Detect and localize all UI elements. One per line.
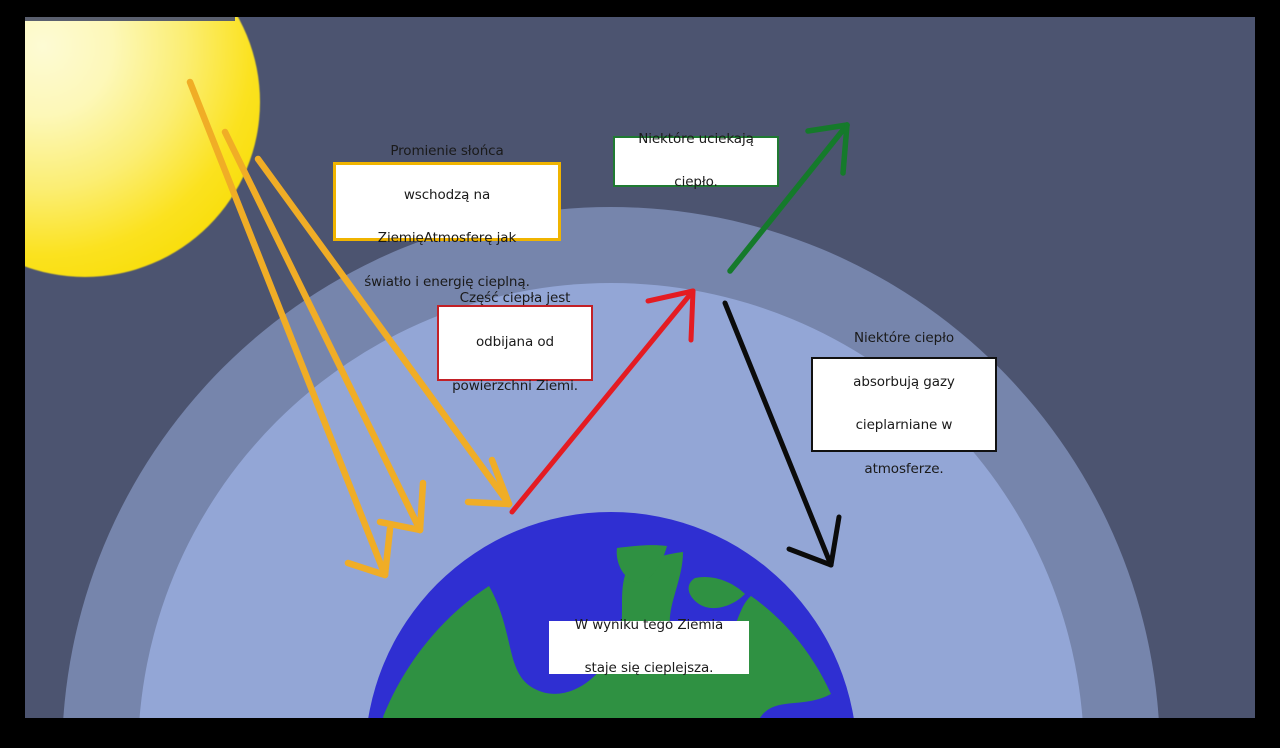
callout-line: Niektóre uciekają [615,129,777,151]
greenhouse-effect-diagram: Promienie słońca wschodzą na ZiemięAtmos… [0,0,1280,748]
callout-line: atmosferze. [813,459,995,481]
frame-right-bar [1255,0,1280,748]
callout-line: W wyniku tego Ziemia [549,615,749,637]
callout-escaping-heat: Niektóre uciekają ciepło. [613,136,779,187]
callout-escaping-heat-text: Niektóre uciekają ciepło. [615,129,777,195]
callout-line: Część ciepła jest [439,288,591,310]
callout-line: odbijana od [439,332,591,354]
callout-line: staje się cieplejsza. [549,658,749,680]
callout-line: wschodzą na [336,185,558,207]
callout-sun-rays: Promienie słońca wschodzą na ZiemięAtmos… [333,162,561,241]
callout-line: absorbują gazy [813,372,995,394]
callout-reflected-heat: Część ciepła jest odbijana od powierzchn… [437,305,593,381]
callout-line: powierzchni Ziemi. [439,376,591,398]
frame-left-bar [0,0,25,748]
callout-result-warmer-text: W wyniku tego Ziemia staje się cieplejsz… [549,615,749,681]
frame-bottom-bar [0,718,1280,748]
frame-top-bar [0,0,1280,17]
callout-line: ciepło. [615,172,777,194]
callout-result-warmer: W wyniku tego Ziemia staje się cieplejsz… [549,621,749,674]
slide-canvas: Promienie słońca wschodzą na ZiemięAtmos… [25,17,1255,718]
sun-top-clip-band [25,17,235,21]
callout-line: Promienie słońca [336,141,558,163]
callout-line: Niektóre ciepło [813,328,995,350]
callout-sun-rays-text: Promienie słońca wschodzą na ZiemięAtmos… [336,133,558,286]
callout-absorbed-heat: Niektóre ciepło absorbują gazy cieplarni… [811,357,997,452]
callout-line: cieplarniane w [813,415,995,437]
callout-absorbed-heat-text: Niektóre ciepło absorbują gazy cieplarni… [813,328,995,481]
callout-line: ZiemięAtmosferę jak [336,228,558,250]
callout-reflected-heat-text: Część ciepła jest odbijana od powierzchn… [439,288,591,397]
